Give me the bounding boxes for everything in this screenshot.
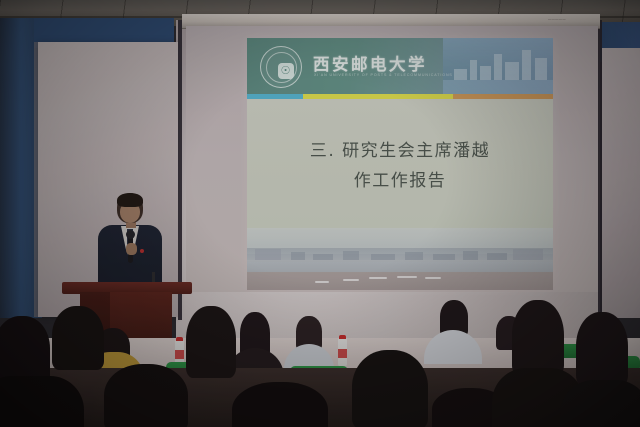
seal-glyph-icon: ☉ [278,63,294,79]
right-wall-panel [602,48,640,318]
slide-title: 三. 研究生会主席潘越 作工作报告 [247,136,553,196]
valance-label: ————— [548,17,566,21]
speaker-hand [126,243,137,255]
water-bottle-cap [176,337,183,341]
audience-member-foreground-shoulder [0,376,84,427]
photo-road [247,272,553,290]
audience-member-foreground [232,382,328,427]
wall-seam-right [598,20,602,320]
photo-skyline [247,248,553,260]
wall-seam-left [178,20,182,320]
audience-member-foreground [104,364,188,427]
university-name-en: XI'AN UNIVERSITY OF POSTS & TELECOMMUNIC… [314,73,453,77]
microphone-head-icon [126,230,135,239]
audience-member-foreground [52,306,104,370]
audience-member-foreground [186,306,236,378]
slide-title-line-2: 作工作报告 [247,166,553,196]
header-cityscape-image [443,38,553,94]
slide-title-line-1: 三. 研究生会主席潘越 [247,136,553,166]
audience-member-foreground-shoulder [560,380,640,427]
speaker-hair [117,193,143,207]
header-water-reflection [443,80,553,94]
audience-member-foreground [352,350,428,427]
audience-member-foreground [512,300,564,376]
university-seal-icon: ☉ [260,46,302,88]
slide-header-band: ☉ 西安邮电大学 XI'AN UNIVERSITY OF POSTS & TEL… [247,38,553,94]
water-bottle-label [175,350,184,359]
slide-photo-strip [247,228,553,290]
speaker-lapel-badge [140,249,144,253]
seal-inner-ring: ☉ [266,52,297,83]
university-name-cn: 西安邮电大学 [313,51,427,75]
presentation-slide: ☉ 西安邮电大学 XI'AN UNIVERSITY OF POSTS & TEL… [247,38,553,290]
water-bottle-cap [339,335,346,339]
photo-scene: ————— ☉ 西安邮电大学 [0,0,640,427]
seal-emblem: ☉ [278,63,294,79]
audience-member-foreground [576,312,628,386]
